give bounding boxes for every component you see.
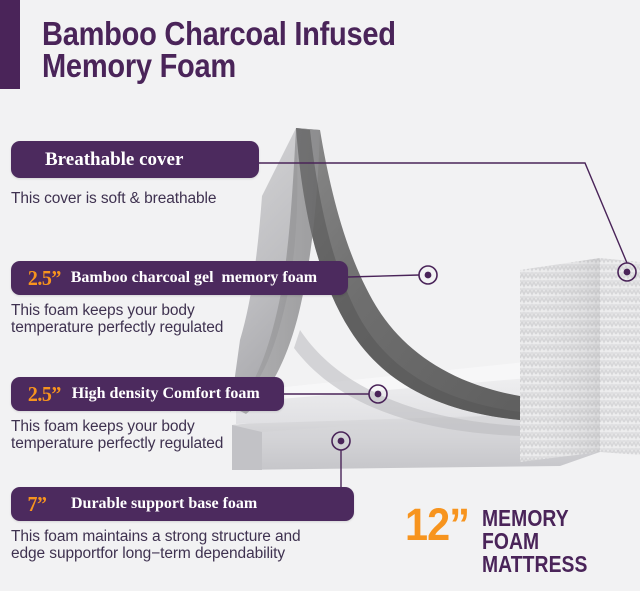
product-size-badge: 12” MEMORY FOAM MATTRESS [405, 505, 640, 576]
marker-base-foam [332, 432, 350, 450]
layer-label-text: Durable support base foam [71, 496, 257, 512]
layer-label-breathable-cover[interactable]: Breathable cover [11, 141, 259, 178]
badge-size-value: 12” [405, 505, 469, 545]
layer-label-high-density-comfort-foam[interactable]: 2.5” High density Comfort foam [11, 377, 284, 411]
marker-comfort-foam [369, 385, 387, 403]
marker-bamboo-charcoal [419, 266, 437, 284]
layer-label-text: High density Comfort foam [72, 386, 260, 402]
layer-description-breathable-cover: This cover is soft & breathable [11, 190, 311, 207]
layer-thickness-value: 2.5” [28, 268, 61, 289]
leader-line-bamboo-charcoal [348, 275, 419, 277]
layer-label-text: Bamboo charcoal gel memory foam [71, 270, 317, 286]
leader-line-breathable-cover [259, 163, 627, 263]
layer-description-bamboo-charcoal-gel-memory-foam: This foam keeps your body temperature pe… [11, 302, 331, 336]
layer-label-bamboo-charcoal-gel-memory-foam[interactable]: 2.5” Bamboo charcoal gel memory foam [11, 261, 348, 295]
badge-product-name: MEMORY FOAM MATTRESS [482, 505, 615, 576]
layer-label-text: Breathable cover [45, 150, 183, 169]
left-accent-bar [0, 0, 20, 89]
layer-label-durable-support-base-foam[interactable]: 7” Durable support base foam [11, 487, 354, 521]
page-title: Bamboo Charcoal Infused Memory Foam [42, 18, 517, 82]
infographic-canvas: Bamboo Charcoal Infused Memory Foam Brea… [0, 0, 640, 591]
comfort-foam-slab-shape [236, 360, 600, 424]
knit-fabric-cover-edge [520, 258, 640, 462]
layer-thickness-value: 2.5” [28, 384, 61, 405]
layer-description-high-density-comfort-foam: This foam keeps your body temperature pe… [11, 418, 331, 452]
marker-breathable-cover [618, 263, 636, 281]
layer-description-durable-support-base-foam: This foam maintains a strong structure a… [11, 528, 351, 562]
layer-thickness-value: 7” [28, 494, 47, 515]
